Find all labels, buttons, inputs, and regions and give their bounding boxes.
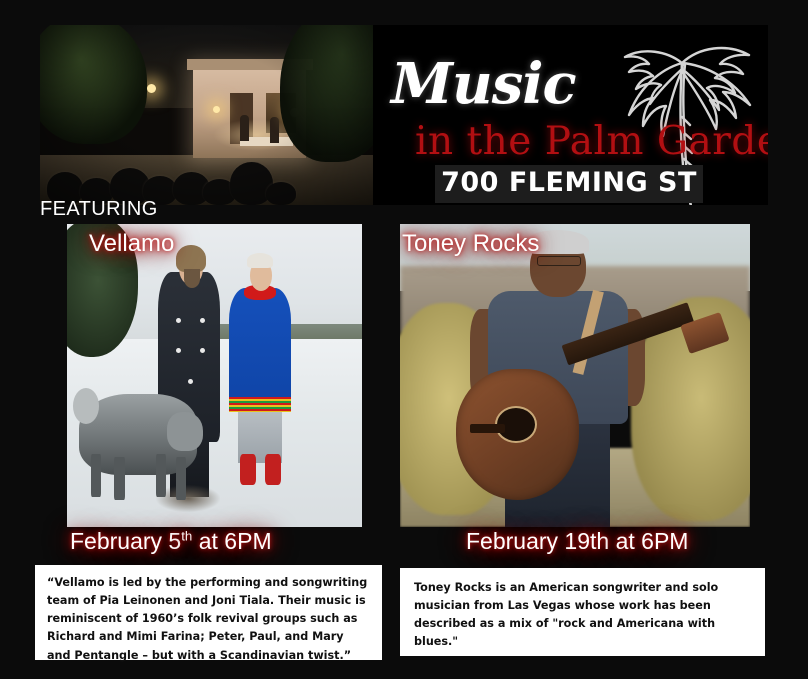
artist-description-vellamo: “Vellamo is led by the performing and so…: [35, 565, 382, 660]
dog-leg: [176, 457, 186, 499]
logo-word-sub: in the Palm Garden: [415, 119, 768, 164]
musician-glasses: [537, 256, 581, 266]
address-text: 700 FLEMING ST: [435, 167, 703, 198]
musician-woman-dress: [229, 288, 291, 412]
show-date-vellamo-ordinal: th: [181, 528, 192, 543]
show-date-toney-rocks: February 19th at 6PM: [466, 528, 688, 555]
musician-man-hair: [176, 245, 206, 272]
logo-plate: Music in the Palm Garden 700 FLEMING ST: [373, 25, 768, 205]
musician-woman-boot: [240, 454, 256, 484]
artist-description-toney-rocks: Toney Rocks is an American songwriter an…: [400, 568, 765, 656]
coat-button: [188, 379, 193, 384]
musician-man-beard: [184, 269, 200, 287]
musician-woman-boot: [265, 454, 281, 484]
show-date-toney-rocks-time: at 6PM: [609, 528, 688, 554]
coat-button: [200, 348, 205, 353]
musician-woman-hat: [247, 253, 274, 268]
artist-card-toney-rocks: Toney Rocks: [400, 224, 750, 527]
artist-card-vellamo: Vellamo: [67, 224, 362, 527]
guitar-bridge: [470, 424, 505, 433]
event-poster: Music in the Palm Garden 700 FLEMING ST …: [0, 0, 808, 679]
coat-button: [200, 318, 205, 323]
artist-name-toney-rocks: Toney Rocks: [402, 230, 539, 258]
vellamo-photo: Vellamo: [67, 224, 362, 527]
poster-header: Music in the Palm Garden 700 FLEMING ST: [40, 25, 768, 205]
dog-leg: [156, 454, 166, 496]
featuring-label: FEATURING: [40, 198, 158, 221]
show-date-vellamo-time: at 6PM: [192, 528, 271, 554]
show-date-vellamo-prefix: February 5: [70, 528, 181, 554]
venue-photo: [40, 25, 373, 205]
dog-leg: [114, 457, 124, 499]
musician-woman-dress-trim: [229, 397, 291, 412]
logo-word-music: Music: [391, 51, 576, 117]
venue-vignette: [40, 25, 373, 205]
dog-leg: [91, 454, 101, 496]
toney-rocks-photo: Toney Rocks: [400, 224, 750, 527]
dog-head: [167, 412, 202, 451]
show-date-toney-rocks-prefix: February 19th: [466, 528, 609, 554]
artist-name-vellamo: Vellamo: [89, 230, 174, 258]
show-date-vellamo: February 5th at 6PM: [70, 528, 272, 555]
